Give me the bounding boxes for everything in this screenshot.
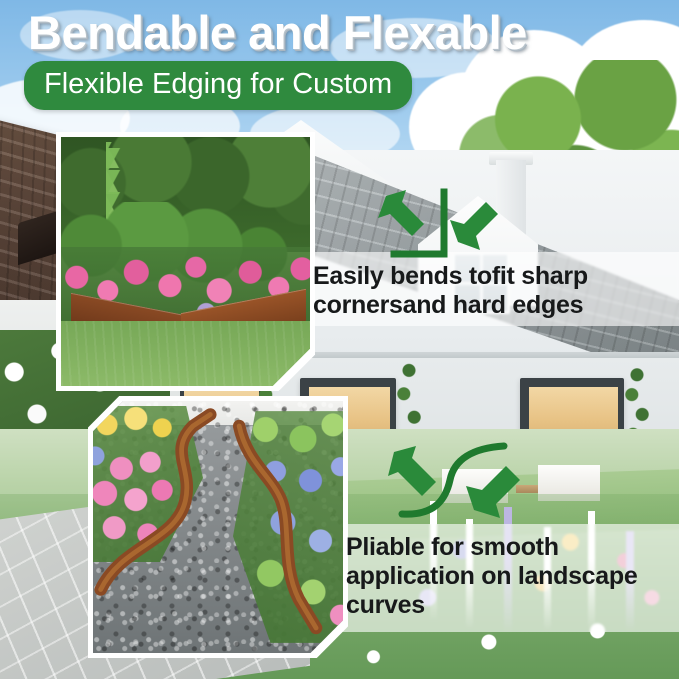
product-marketing-image: Bendable and Flexable Flexible Edging fo… xyxy=(0,0,679,679)
inset-photo-1-image xyxy=(61,137,310,386)
lawn-grass xyxy=(61,321,310,386)
inset-photo-sharp-corner xyxy=(56,132,315,391)
corner-bend-arrows-icon xyxy=(372,186,502,264)
arrow-up-right-icon xyxy=(450,202,498,250)
corten-edging-curves xyxy=(93,401,343,653)
arrow-down-right-icon xyxy=(388,446,436,496)
arrow-up-right-icon xyxy=(466,466,520,518)
garden-bed-photo xyxy=(61,137,310,386)
gravel-path-photo xyxy=(93,401,343,653)
inset-photo-2-image xyxy=(93,401,343,653)
arrow-down-right-icon xyxy=(378,190,424,236)
inset-photo-curved-path xyxy=(88,396,348,658)
s-curve-arrows-icon xyxy=(388,438,528,524)
subtitle-badge: Flexible Edging for Custom xyxy=(24,61,412,110)
feature-text-sharp-corners: Easily bends tofit sharp cornersand hard… xyxy=(313,262,663,320)
feature-text-smooth-curves: Pliable for smooth application on landsc… xyxy=(346,533,666,620)
page-title: Bendable and Flexable xyxy=(28,8,527,57)
